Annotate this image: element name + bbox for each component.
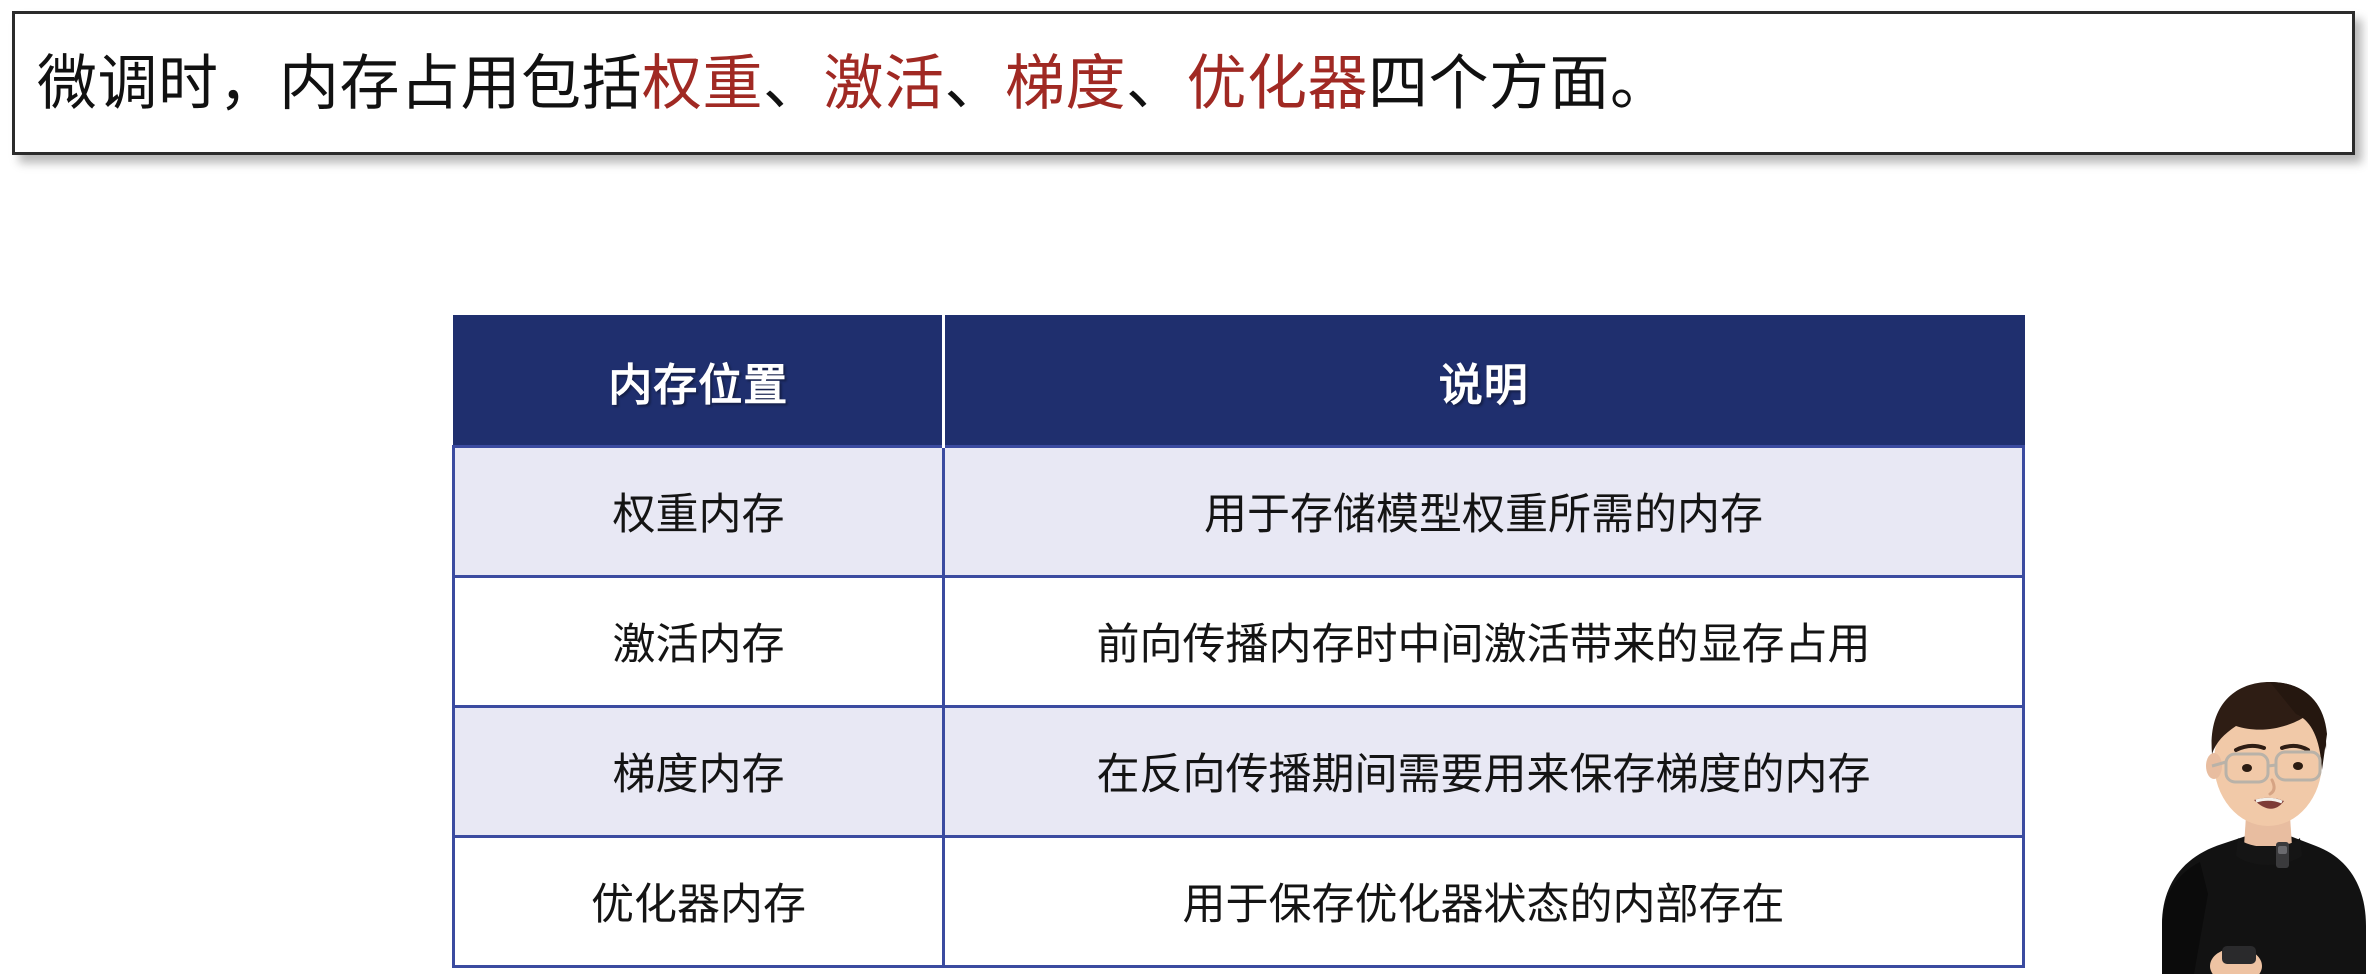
presenter-figure-icon — [2150, 594, 2368, 974]
title-prefix: 微调时，内存占用包括 — [37, 50, 642, 117]
page-title: 微调时，内存占用包括权重、激活、梯度、优化器四个方面。 — [15, 49, 1671, 118]
cell-description: 在反向传播期间需要用来保存梯度的内存 — [944, 706, 2024, 836]
table-header: 内存位置 说明 — [454, 316, 2024, 446]
cell-memory-location: 激活内存 — [454, 576, 944, 706]
title-separator-1: 、 — [763, 50, 824, 117]
presenter-video-overlay — [2150, 594, 2368, 974]
title-term-optimizer: 优化器 — [1187, 50, 1369, 117]
cell-memory-location: 优化器内存 — [454, 836, 944, 966]
cell-description: 用于保存优化器状态的内部存在 — [944, 836, 2024, 966]
title-term-gradients: 梯度 — [1005, 50, 1126, 117]
table-row: 权重内存 用于存储模型权重所需的内存 — [454, 446, 2024, 576]
column-header-description: 说明 — [944, 316, 2024, 446]
column-header-memory-location: 内存位置 — [454, 316, 944, 446]
title-term-activations: 激活 — [824, 50, 945, 117]
cell-memory-location: 权重内存 — [454, 446, 944, 576]
cell-memory-location: 梯度内存 — [454, 706, 944, 836]
title-separator-3: 、 — [1126, 50, 1187, 117]
table-body: 权重内存 用于存储模型权重所需的内存 激活内存 前向传播内存时中间激活带来的显存… — [454, 446, 2024, 966]
cell-description: 前向传播内存时中间激活带来的显存占用 — [944, 576, 2024, 706]
title-separator-2: 、 — [945, 50, 1006, 117]
title-suffix: 四个方面。 — [1368, 50, 1671, 117]
table-header-row: 内存位置 说明 — [454, 316, 2024, 446]
table-row: 激活内存 前向传播内存时中间激活带来的显存占用 — [454, 576, 2024, 706]
title-banner: 微调时，内存占用包括权重、激活、梯度、优化器四个方面。 — [12, 11, 2355, 155]
table-row: 梯度内存 在反向传播期间需要用来保存梯度的内存 — [454, 706, 2024, 836]
memory-breakdown-table: 内存位置 说明 权重内存 用于存储模型权重所需的内存 激活内存 前向传播内存时中… — [452, 315, 2025, 968]
cell-description: 用于存储模型权重所需的内存 — [944, 446, 2024, 576]
table-row: 优化器内存 用于保存优化器状态的内部存在 — [454, 836, 2024, 966]
title-term-weights: 权重 — [642, 50, 763, 117]
